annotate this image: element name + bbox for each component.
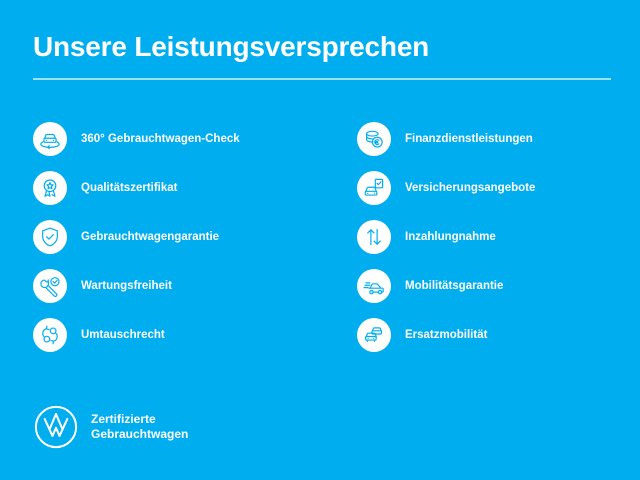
coins-euro-icon [357, 122, 391, 156]
promise-label: Umtauschrecht [81, 328, 165, 342]
promises-column-left: 360° Gebrauchtwagen-Check Qualitätszerti… [33, 122, 353, 367]
exchange-arrows-icon [33, 318, 67, 352]
up-down-arrows-icon [357, 220, 391, 254]
promises-slide: Unsere Leistungsversprechen 360° Gebrauc [0, 0, 640, 480]
car-motion-icon [357, 269, 391, 303]
promise-label: Versicherungsangebote [405, 181, 535, 195]
wrench-check-icon [33, 269, 67, 303]
promise-label: Wartungsfreiheit [81, 279, 172, 293]
promises-columns: 360° Gebrauchtwagen-Check Qualitätszerti… [0, 122, 640, 367]
header: Unsere Leistungsversprechen [33, 30, 611, 80]
promise-label: Mobilitätsgarantie [405, 279, 503, 293]
promise-item: Versicherungsangebote [357, 171, 640, 205]
award-rosette-icon [33, 171, 67, 205]
promise-item: Qualitätszertifikat [33, 171, 353, 205]
promise-label: Finanzdienstleistungen [405, 132, 533, 146]
promise-item: Ersatzmobilität [357, 318, 640, 352]
car-360-check-icon [33, 122, 67, 156]
header-divider [33, 78, 611, 80]
page-title: Unsere Leistungsversprechen [33, 30, 611, 64]
car-document-icon [357, 171, 391, 205]
promise-label: Qualitätszertifikat [81, 181, 178, 195]
brand-line-1: Zertifizierte [91, 412, 188, 427]
promise-item: Umtauschrecht [33, 318, 353, 352]
promises-column-right: Finanzdienstleistungen Versicherungsange… [357, 122, 640, 367]
two-cars-icon [357, 318, 391, 352]
promise-label: Inzahlungnahme [405, 230, 496, 244]
promise-item: Wartungsfreiheit [33, 269, 353, 303]
promise-label: Ersatzmobilität [405, 328, 487, 342]
brand-text: Zertifizierte Gebrauchtwagen [91, 412, 188, 442]
promise-item: Inzahlungnahme [357, 220, 640, 254]
promise-label: Gebrauchtwagengarantie [81, 230, 219, 244]
shield-check-icon [33, 220, 67, 254]
promise-item: Gebrauchtwagengarantie [33, 220, 353, 254]
brand-footer: Zertifizierte Gebrauchtwagen [33, 404, 188, 450]
promise-label: 360° Gebrauchtwagen-Check [81, 132, 240, 146]
promise-item: Finanzdienstleistungen [357, 122, 640, 156]
promise-item: 360° Gebrauchtwagen-Check [33, 122, 353, 156]
promise-item: Mobilitätsgarantie [357, 269, 640, 303]
volkswagen-logo [33, 404, 79, 450]
brand-line-2: Gebrauchtwagen [91, 427, 188, 442]
